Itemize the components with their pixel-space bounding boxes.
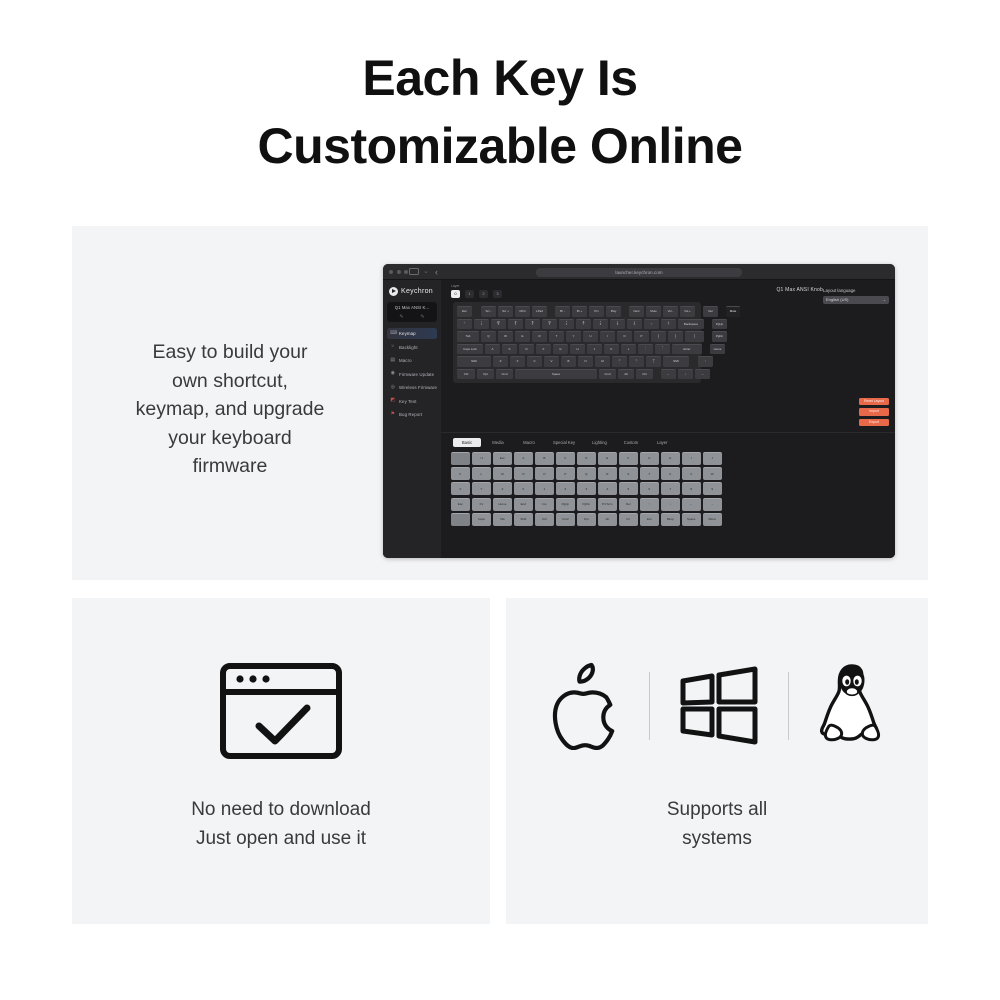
keyboard-key[interactable]: Prv: [589, 306, 604, 317]
picker-key[interactable]: [451, 513, 470, 526]
tab-custom[interactable]: Custom: [617, 438, 645, 447]
keyboard-spacer: [720, 306, 724, 317]
key-legend-bottom: 0: [634, 324, 635, 327]
picker-key[interactable]: S: [619, 467, 638, 480]
sidebar-item-label: Firmware Update: [399, 372, 434, 377]
picker-key[interactable]: Menu: [703, 513, 722, 526]
keyboard-key[interactable]: Backspace: [678, 319, 704, 330]
tab-basic[interactable]: Basic: [453, 438, 481, 447]
picker-key[interactable]: Cmd: [556, 513, 575, 526]
os-icon-row: [547, 662, 887, 750]
keyboard-key[interactable]: *8: [593, 319, 608, 330]
sidebar-item-label: Bug Report: [399, 412, 422, 417]
keyboard-key[interactable]: %5: [542, 319, 557, 330]
keyboard-key[interactable]: LPad: [532, 306, 547, 317]
sidebar-item-label: Keymap: [399, 331, 416, 336]
key-legend-bottom: ]: [675, 337, 676, 340]
keyboard-row: CtrlOptCmdSpaceCmdAltCtrl←↓→: [457, 369, 697, 380]
tab-media[interactable]: Media: [484, 438, 512, 447]
keyboard-key[interactable]: MCtl: [515, 306, 530, 317]
layer-button-2[interactable]: 2: [479, 290, 488, 298]
keyboard-spacer: [623, 306, 627, 317]
maximize-icon[interactable]: [404, 270, 408, 274]
layer-label: Layer: [451, 284, 459, 288]
keyboard-key[interactable]: Y: [566, 331, 581, 342]
picker-key[interactable]: 3: [577, 482, 596, 495]
picker-key[interactable]: [451, 452, 470, 465]
minimize-icon[interactable]: [397, 270, 401, 274]
keyboard-key[interactable]: Br -: [555, 306, 570, 317]
launcher-caption-line: keymap, and upgrade: [100, 395, 360, 424]
picker-key[interactable]: M: [493, 467, 512, 480]
keyboard-key[interactable]: ?/: [646, 356, 661, 367]
picker-key[interactable]: E: [598, 452, 617, 465]
picker-key[interactable]: X: [451, 482, 470, 495]
wireless-firmware-icon: ◎: [390, 385, 396, 391]
picker-key[interactable]: D: [577, 452, 596, 465]
edit-icon[interactable]: ✎: [399, 314, 403, 320]
keyboard-key[interactable]: Cmd: [599, 369, 616, 380]
keyboard-spacer: [706, 331, 710, 342]
keyboard-key[interactable]: A: [485, 344, 500, 355]
keyboard-layout[interactable]: EscScr -Scr +MCtlLPadBr -Br +PrvPlayNext…: [453, 302, 701, 383]
picker-row: ! 1EscABCDEFGHIJ: [451, 452, 887, 465]
key-legend-bottom: 4: [532, 324, 533, 327]
sidebar-item-label: Wireless Firmware: [399, 385, 437, 390]
keyboard-key[interactable]: Shift: [663, 356, 689, 367]
keyboard-key[interactable]: $4: [525, 319, 540, 330]
keyboard-spacer: [697, 306, 701, 317]
picker-key[interactable]: V: [682, 467, 701, 480]
keyboard-key[interactable]: |\: [685, 331, 704, 342]
keyboard-key[interactable]: K: [604, 344, 619, 355]
keyboard-key[interactable]: )0: [627, 319, 642, 330]
keychron-logo-icon: [389, 287, 398, 296]
keyboard-key[interactable]: ^6: [559, 319, 574, 330]
keyboard-key[interactable]: J: [587, 344, 602, 355]
picker-key[interactable]: I: [682, 452, 701, 465]
picker-key[interactable]: 1: [535, 482, 554, 495]
key-legend-bottom: 7: [583, 324, 584, 327]
picker-key[interactable]: ↑: [640, 498, 659, 511]
supports-caption-line1: Supports all: [506, 795, 928, 824]
keyboard-key[interactable]: @2: [491, 319, 506, 330]
launcher-app-window: ⌄ ‹ launcher.keychron.com Keychron Q1 Ma…: [383, 264, 895, 558]
keyboard-key[interactable]: Q: [481, 331, 496, 342]
sidebar-toggle-icon[interactable]: [409, 268, 419, 275]
picker-key[interactable]: H: [661, 452, 680, 465]
no-download-caption: No need to download Just open and use it: [72, 795, 490, 853]
keyboard-key[interactable]: N: [578, 356, 593, 367]
picker-key[interactable]: Shift: [514, 513, 533, 526]
key-legend-bottom: 8: [600, 324, 601, 327]
chevron-down-icon: ⌄: [883, 296, 886, 304]
divider: [788, 672, 789, 740]
picker-key[interactable]: W: [703, 467, 722, 480]
key-legend-bottom: -: [651, 324, 652, 327]
picker-key[interactable]: PgDn: [577, 498, 596, 511]
keyboard-key[interactable]: Del: [703, 306, 718, 317]
picker-key[interactable]: L: [472, 467, 491, 480]
sidebar-item-backlight[interactable]: ☼ Backlight: [387, 342, 437, 353]
keyboard-spacer: [704, 344, 708, 355]
sidebar-item-key-test[interactable]: ◩ Key Test: [387, 396, 437, 407]
keyboard-key[interactable]: →: [695, 369, 710, 380]
key-legend-bottom: ,: [619, 362, 620, 365]
keyboard-key[interactable]: U: [583, 331, 598, 342]
more-icon[interactable]: [883, 269, 889, 275]
launcher-caption: Easy to build your own shortcut, keymap,…: [100, 338, 360, 481]
supports-all-systems-caption: Supports all systems: [506, 795, 928, 853]
windows-icon: [678, 665, 760, 747]
picker-key[interactable]: 7: [661, 482, 680, 495]
layout-language-value: English (US): [826, 296, 848, 304]
supports-caption-line2: systems: [506, 824, 928, 853]
keyboard-row: ShiftZXCVBNM<,>.?/Shift↑: [457, 356, 697, 367]
keyboard-row: ~`!1@2#3$4%5^6&7*8(9)0_-+=BackspacePgUp: [457, 319, 697, 330]
import-button[interactable]: Import: [859, 408, 889, 416]
keyboard-key[interactable]: >.: [629, 356, 644, 367]
keyboard-key[interactable]: (9: [610, 319, 625, 330]
layer-button-1[interactable]: 1: [465, 290, 474, 298]
divider: [649, 672, 650, 740]
brand: Keychron: [387, 285, 437, 302]
keyboard-key[interactable]: Tab: [457, 331, 479, 342]
keyboard-spacer: [706, 319, 710, 330]
keyboard-key[interactable]: C: [527, 356, 542, 367]
app-body: Keychron Q1 Max ANSI K... ✎ ✎ ⌨ Keymap ☼…: [383, 280, 895, 558]
keyboard-row: TabQWERTYUIOP{[}]|\PgDn: [457, 331, 697, 342]
picker-key[interactable]: Tab: [493, 513, 512, 526]
picker-key[interactable]: F1: [472, 498, 491, 511]
picker-key[interactable]: →: [703, 498, 722, 511]
picker-key[interactable]: Caps: [472, 513, 491, 526]
keyboard-key[interactable]: }]: [668, 331, 683, 342]
page-title: Each Key Is Customizable Online: [0, 44, 1000, 180]
action-buttons: Reset Layout Import Export: [859, 398, 889, 427]
keyboard-key[interactable]: Mute: [726, 306, 740, 317]
picker-key[interactable]: U: [661, 467, 680, 480]
layout-language-select[interactable]: English (US) ⌄: [823, 296, 889, 304]
brand-name: Keychron: [401, 288, 433, 295]
key-legend-bottom: ;: [645, 349, 646, 352]
back-arrow-icon[interactable]: ‹: [435, 268, 443, 276]
picker-key[interactable]: P: [556, 467, 575, 480]
keyboard-key[interactable]: Home: [710, 344, 725, 355]
picker-key[interactable]: 8: [682, 482, 701, 495]
device-card[interactable]: Q1 Max ANSI K... ✎ ✎: [387, 302, 437, 322]
keyboard-key[interactable]: Mute: [646, 306, 661, 317]
keyboard-key[interactable]: Shift: [457, 356, 491, 367]
keyboard-key[interactable]: S: [502, 344, 517, 355]
layer-button-3[interactable]: 3: [493, 290, 502, 298]
keyboard-key[interactable]: E: [515, 331, 530, 342]
keyboard-key[interactable]: "': [655, 344, 670, 355]
sidebar-item-bug-report[interactable]: ⚑ Bug Report: [387, 409, 437, 420]
feature-panel-supports-all-systems: [506, 598, 928, 924]
backlight-icon: ☼: [390, 344, 396, 350]
traffic-lights: [389, 270, 408, 274]
keyboard-key[interactable]: PgUp: [712, 319, 727, 330]
picker-key[interactable]: J: [703, 452, 722, 465]
picker-key[interactable]: A: [514, 452, 533, 465]
sidebar-item-firmware-update[interactable]: ◉ Firmware Update: [387, 369, 437, 380]
keyboard-key[interactable]: PgDn: [712, 331, 727, 342]
picker-key[interactable]: Alt: [598, 513, 617, 526]
keyboard-key[interactable]: D: [519, 344, 534, 355]
address-bar[interactable]: launcher.keychron.com: [536, 268, 742, 277]
keyboard-key[interactable]: Space: [515, 369, 597, 380]
right-column: Layout language English (US) ⌄ Reset Lay…: [817, 280, 895, 432]
key-legend-bottom: 2: [498, 324, 499, 327]
export-button[interactable]: Export: [859, 419, 889, 427]
device-name: Q1 Max ANSI K...: [391, 305, 433, 310]
picker-key[interactable]: O: [535, 467, 554, 480]
sidebar-item-macro[interactable]: ▤ Macro: [387, 355, 437, 366]
keyboard-key[interactable]: ~`: [457, 319, 472, 330]
sidebar-item-label: Backlight: [399, 345, 418, 350]
picker-key[interactable]: Y: [472, 482, 491, 495]
keyboard-key[interactable]: +=: [661, 319, 676, 330]
picker-key[interactable]: Esc: [451, 498, 470, 511]
picker-key[interactable]: G: [640, 452, 659, 465]
picker-key[interactable]: T: [640, 467, 659, 480]
keyboard-key[interactable]: #3: [508, 319, 523, 330]
picker-key[interactable]: Ctrl: [535, 513, 554, 526]
feature-panel-no-download: [72, 598, 490, 924]
keyboard-key[interactable]: Ctrl: [457, 369, 475, 380]
keyboard-key[interactable]: T: [549, 331, 564, 342]
tab-lighting[interactable]: Lighting: [585, 438, 614, 447]
keyboard-row: EscScr -Scr +MCtlLPadBr -Br +PrvPlayNext…: [457, 306, 697, 317]
picker-key[interactable]: Bksp: [661, 513, 680, 526]
keyboard-key[interactable]: X: [510, 356, 525, 367]
browser-check-icon: [219, 662, 343, 760]
url-text: launcher.keychron.com: [615, 270, 662, 275]
keyboard-key[interactable]: B: [561, 356, 576, 367]
picker-key[interactable]: ↓: [661, 498, 680, 511]
browser-chrome: ⌄ ‹ launcher.keychron.com: [383, 264, 895, 280]
picker-key[interactable]: ! 1: [472, 452, 491, 465]
picker-key[interactable]: 9: [703, 482, 722, 495]
picker-key[interactable]: Z: [493, 482, 512, 495]
picker-key[interactable]: Del: [619, 498, 638, 511]
picker-key[interactable]: Prt Scrn: [598, 498, 617, 511]
picker-key[interactable]: Opt: [577, 513, 596, 526]
key-legend-bottom: 9: [617, 324, 618, 327]
keyboard-key[interactable]: G: [553, 344, 568, 355]
key-legend-bottom: 6: [566, 324, 567, 327]
key-category-tabs: BasicMediaMacroSpecial KeyLightingCustom…: [441, 433, 895, 452]
keymap-icon: ⌨: [390, 331, 396, 337]
keyboard-key[interactable]: Alt: [618, 369, 634, 380]
key-legend-bottom: .: [636, 362, 637, 365]
picker-key[interactable]: ←: [682, 498, 701, 511]
keyboard-key[interactable]: W: [498, 331, 513, 342]
launcher-caption-line: own shortcut,: [100, 367, 360, 396]
keyboard-spacer: [474, 306, 479, 317]
layer-button-0[interactable]: 0: [451, 290, 460, 298]
keyboard-key[interactable]: Vol +: [680, 306, 695, 317]
keyboard-key[interactable]: Ctrl: [636, 369, 653, 380]
tab-layer[interactable]: Layer: [648, 438, 676, 447]
promo-page: Each Key Is Customizable Online Easy to …: [0, 0, 1000, 1000]
reset-layout-button[interactable]: Reset Layout: [859, 398, 889, 406]
picker-key[interactable]: Esc: [493, 452, 512, 465]
picker-key[interactable]: B: [535, 452, 554, 465]
key-legend-bottom: ': [662, 349, 663, 352]
macro-icon: ▤: [390, 358, 396, 364]
picker-key[interactable]: Fn: [619, 513, 638, 526]
picker-row: CapsTabShiftCtrlCmdOptAltFnEntBkspSpaceM…: [451, 513, 887, 526]
keyboard-key[interactable]: Scr -: [481, 306, 496, 317]
keyboard-key[interactable]: Next: [629, 306, 644, 317]
keyboard-key[interactable]: Z: [493, 356, 508, 367]
sidebar-item-keymap[interactable]: ⌨ Keymap: [387, 328, 437, 339]
keyboard-row: Caps LockASDFGHJKL:;"'EnterHome: [457, 344, 697, 355]
launcher-caption-line: Easy to build your: [100, 338, 360, 367]
keyboard-key[interactable]: ↓: [678, 369, 693, 380]
keyboard-key[interactable]: Scr +: [498, 306, 513, 317]
apple-icon: [547, 662, 621, 750]
picker-key[interactable]: K: [451, 467, 470, 480]
sidebar-item-label: Key Test: [399, 399, 417, 404]
keyboard-key[interactable]: O: [617, 331, 632, 342]
keyboard-key[interactable]: V: [544, 356, 559, 367]
picker-key[interactable]: Space: [682, 513, 701, 526]
keyboard-key[interactable]: _-: [644, 319, 659, 330]
keyboard-spacer: [655, 369, 659, 380]
os-icons-wrap: [506, 662, 928, 750]
picker-key[interactable]: R: [598, 467, 617, 480]
app-main: Layer 0 1 2 3 Q1 Max ANSI Knob EscScr -S…: [441, 280, 895, 558]
keyboard-key[interactable]: Play: [606, 306, 621, 317]
keyboard-key[interactable]: :;: [638, 344, 653, 355]
picker-key[interactable]: F: [619, 452, 638, 465]
page-title-line1: Each Key Is: [362, 50, 637, 106]
key-legend-bottom: 5: [549, 324, 550, 327]
key-test-icon: ◩: [390, 398, 396, 404]
layout-language-label: Layout language: [823, 288, 889, 293]
chevron-down-icon[interactable]: ⌄: [423, 268, 431, 276]
keyboard-spacer: [691, 356, 696, 367]
keyboard-key[interactable]: L: [621, 344, 636, 355]
keyboard-key[interactable]: I: [600, 331, 615, 342]
picker-key[interactable]: 4: [598, 482, 617, 495]
keyboard-key[interactable]: &7: [576, 319, 591, 330]
picker-key[interactable]: N: [514, 467, 533, 480]
key-legend-bottom: 1: [481, 324, 482, 327]
key-legend-bottom: 3: [515, 324, 516, 327]
download-icon[interactable]: [872, 269, 878, 275]
no-download-caption-line1: No need to download: [72, 795, 490, 824]
picker-key[interactable]: 0: [514, 482, 533, 495]
key-legend-bottom: `: [464, 324, 465, 327]
picker-key[interactable]: 6: [640, 482, 659, 495]
keyboard-key[interactable]: Caps Lock: [457, 344, 483, 355]
keyboard-key[interactable]: ↑: [698, 356, 713, 367]
picker-key[interactable]: PgUp: [556, 498, 575, 511]
picker-key[interactable]: Ent: [640, 513, 659, 526]
bug-report-icon: ⚑: [390, 412, 396, 418]
keyboard-key[interactable]: P: [634, 331, 649, 342]
picker-key[interactable]: Ins: [535, 498, 554, 511]
picker-key[interactable]: C: [556, 452, 575, 465]
key-legend-bottom: \: [694, 337, 695, 340]
close-icon[interactable]: [389, 270, 393, 274]
keyboard-key[interactable]: ←: [661, 369, 676, 380]
linux-penguin-icon: [817, 662, 887, 750]
picker-row: EscF1HomeEndInsPgUpPgDnPrt ScrnDel↑↓←→: [451, 498, 887, 511]
keyboard-key[interactable]: H: [570, 344, 585, 355]
launcher-caption-line: your keyboard: [100, 424, 360, 453]
app-sidebar: Keychron Q1 Max ANSI K... ✎ ✎ ⌨ Keymap ☼…: [383, 280, 441, 558]
picker-key[interactable]: 2: [556, 482, 575, 495]
keyboard-key[interactable]: Vol -: [663, 306, 678, 317]
keyboard-key[interactable]: Br +: [572, 306, 587, 317]
keyboard-key[interactable]: !1: [474, 319, 489, 330]
picker-row: KLMNOPQRSTUVW: [451, 467, 887, 480]
page-title-line2: Customizable Online: [0, 112, 1000, 180]
firmware-update-icon: ◉: [390, 371, 396, 377]
keyboard-key[interactable]: Enter: [672, 344, 702, 355]
key-picker-grid[interactable]: ! 1EscABCDEFGHIJKLMNOPQRSTUVWXYZ01234567…: [441, 452, 895, 534]
browser-check-icon-wrap: [72, 662, 490, 760]
keyboard-key[interactable]: {[: [651, 331, 666, 342]
key-legend-bottom: [: [658, 337, 659, 340]
chrome-right-icons: [872, 269, 889, 275]
settings-icon[interactable]: ✎: [420, 314, 424, 320]
tab-special-key[interactable]: Special Key: [546, 438, 582, 447]
device-card-icons: ✎ ✎: [391, 314, 433, 320]
launcher-caption-line: firmware: [100, 452, 360, 481]
keyboard-key[interactable]: M: [595, 356, 610, 367]
tab-macro[interactable]: Macro: [515, 438, 543, 447]
keyboard-key[interactable]: <,: [612, 356, 627, 367]
sidebar-item-wireless-firmware[interactable]: ◎ Wireless Firmware: [387, 382, 437, 393]
keyboard-key[interactable]: Cmd: [496, 369, 513, 380]
keyboard-key[interactable]: Opt: [477, 369, 494, 380]
key-legend-bottom: =: [668, 324, 670, 327]
key-legend-bottom: /: [653, 362, 654, 365]
picker-key[interactable]: End: [514, 498, 533, 511]
keyboard-spacer: [549, 306, 553, 317]
keyboard-key[interactable]: Esc: [457, 306, 472, 317]
picker-key[interactable]: Q: [577, 467, 596, 480]
no-download-caption-line2: Just open and use it: [72, 824, 490, 853]
sidebar-item-label: Macro: [399, 358, 412, 363]
picker-row: XYZ0123456789: [451, 482, 887, 495]
keyboard-key[interactable]: R: [532, 331, 547, 342]
picker-key[interactable]: 5: [619, 482, 638, 495]
picker-key[interactable]: Home: [493, 498, 512, 511]
keyboard-key[interactable]: F: [536, 344, 551, 355]
